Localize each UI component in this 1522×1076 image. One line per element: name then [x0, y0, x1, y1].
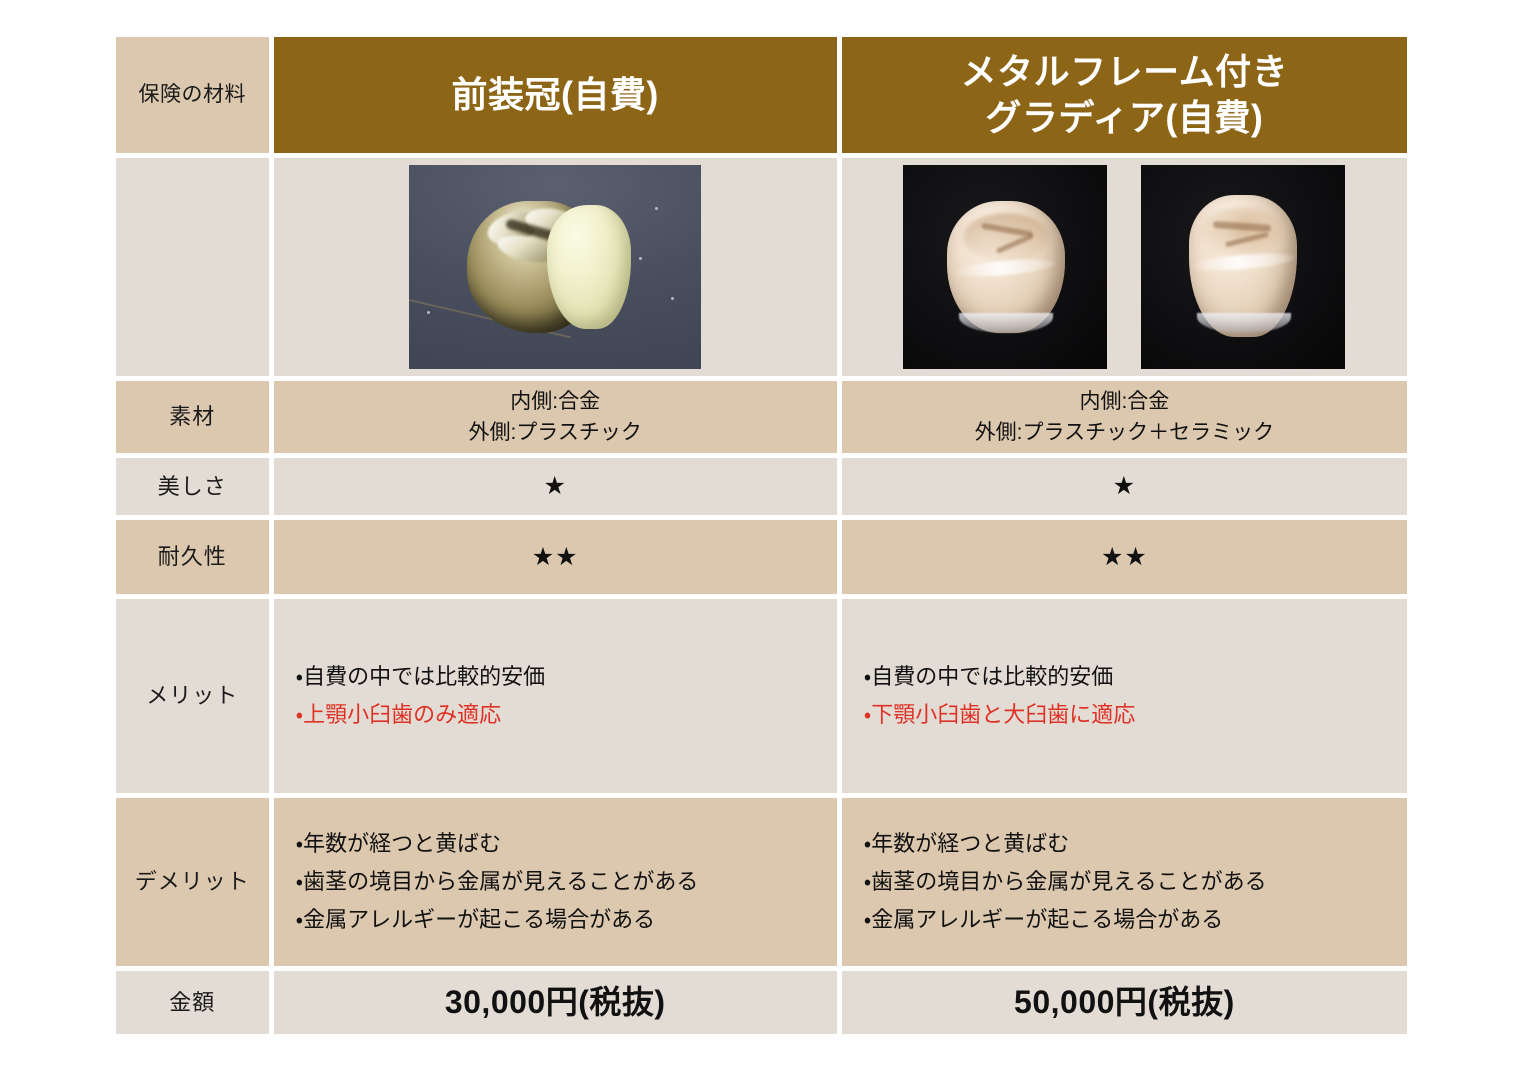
table-row-material: 素材 内側:合金 外側:プラスチック 内側:合金 外側:プラスチック＋セラミック	[116, 381, 1407, 453]
demerit-option2-list: ・年数が経つと黄ばむ ・歯茎の境目から金属が見えることがある ・金属アレルギーが…	[842, 825, 1407, 938]
row-label-durability: 耐久性	[116, 520, 269, 594]
material-option2: 内側:合金 外側:プラスチック＋セラミック	[842, 381, 1407, 453]
crown-plastic-facing	[547, 205, 631, 329]
merit-option1-item-1: ・上顎小臼歯のみ適応	[296, 696, 837, 734]
header-label-insurance-material: 保険の材料	[116, 37, 269, 153]
demerit-option1: ・年数が経つと黄ばむ ・歯茎の境目から金属が見えることがある ・金属アレルギーが…	[274, 798, 837, 966]
photo-wrap-option2	[842, 158, 1407, 376]
photo-cell-option2	[842, 158, 1407, 376]
merit-option1: ・自費の中では比較的安価 ・上顎小臼歯のみ適応	[274, 599, 837, 793]
table-photo-row	[116, 158, 1407, 376]
row-label-demerit: デメリット	[116, 798, 269, 966]
demerit-option2-item-1: ・歯茎の境目から金属が見えることがある	[864, 863, 1407, 901]
merit-option2: ・自費の中では比較的安価 ・下顎小臼歯と大臼歯に適応	[842, 599, 1407, 793]
gradia-occlusal-surface-left	[963, 213, 1049, 261]
gradia-crown-occlusal-photo	[903, 165, 1107, 369]
photo-row-label-empty	[116, 158, 269, 376]
photo-speck	[655, 207, 658, 210]
header-option2-line1: メタルフレーム付き	[961, 51, 1288, 92]
merit-option2-item-0: ・自費の中では比較的安価	[864, 658, 1407, 696]
gradia-metal-margin-left	[959, 313, 1053, 333]
row-label-price: 金額	[116, 971, 269, 1034]
demerit-option1-item-1: ・歯茎の境目から金属が見えることがある	[296, 863, 837, 901]
table-row-beauty: 美しさ ★ ★	[116, 458, 1407, 515]
table-row-merit: メリット ・自費の中では比較的安価 ・上顎小臼歯のみ適応 ・自費の中では比較的安…	[116, 599, 1407, 793]
material-option1-line1: 内側:合金	[510, 390, 600, 413]
durability-rating-option2: ★★	[842, 520, 1407, 594]
photo-speck	[671, 297, 674, 300]
merit-option1-list: ・自費の中では比較的安価 ・上顎小臼歯のみ適応	[274, 658, 837, 734]
photo-speck	[639, 257, 642, 260]
table-row-durability: 耐久性 ★★ ★★	[116, 520, 1407, 594]
material-option2-line1: 内側:合金	[1079, 390, 1169, 413]
durability-rating-option1: ★★	[274, 520, 837, 594]
gradia-metal-margin-right	[1197, 313, 1291, 333]
material-comparison-table: 保険の材料 前装冠(自費) メタルフレーム付き グラディア(自費)	[111, 32, 1412, 1039]
comparison-sheet: 保険の材料 前装冠(自費) メタルフレーム付き グラディア(自費)	[0, 0, 1522, 1076]
header-option2-title: メタルフレーム付き グラディア(自費)	[842, 37, 1407, 153]
merit-option2-list: ・自費の中では比較的安価 ・下顎小臼歯と大臼歯に適応	[842, 658, 1407, 734]
material-option1: 内側:合金 外側:プラスチック	[274, 381, 837, 453]
gradia-crown-side-photo	[1141, 165, 1345, 369]
demerit-option1-list: ・年数が経つと黄ばむ ・歯茎の境目から金属が見えることがある ・金属アレルギーが…	[274, 825, 837, 938]
row-label-material: 素材	[116, 381, 269, 453]
photo-speck	[427, 311, 430, 314]
price-option1: 30,000円(税抜)	[274, 971, 837, 1034]
beauty-rating-option2: ★	[842, 458, 1407, 515]
header-option1-title: 前装冠(自費)	[274, 37, 837, 153]
price-option2: 50,000円(税抜)	[842, 971, 1407, 1034]
table-row-demerit: デメリット ・年数が経つと黄ばむ ・歯茎の境目から金属が見えることがある ・金属…	[116, 798, 1407, 966]
material-option2-line2: 外側:プラスチック＋セラミック	[975, 421, 1274, 444]
demerit-option2-item-2: ・金属アレルギーが起こる場合がある	[864, 901, 1407, 939]
merit-option2-item-1: ・下顎小臼歯と大臼歯に適応	[864, 696, 1407, 734]
table-header-row: 保険の材料 前装冠(自費) メタルフレーム付き グラディア(自費)	[116, 37, 1407, 153]
photo-wrap-option1	[274, 158, 837, 376]
row-label-beauty: 美しさ	[116, 458, 269, 515]
merit-option1-item-0: ・自費の中では比較的安価	[296, 658, 837, 696]
beauty-rating-option1: ★	[274, 458, 837, 515]
demerit-option2-item-0: ・年数が経つと黄ばむ	[864, 825, 1407, 863]
row-label-merit: メリット	[116, 599, 269, 793]
photo-cell-option1	[274, 158, 837, 376]
header-option2-line2: グラディア(自費)	[985, 97, 1263, 138]
table-row-price: 金額 30,000円(税抜) 50,000円(税抜)	[116, 971, 1407, 1034]
demerit-option1-item-0: ・年数が経つと黄ばむ	[296, 825, 837, 863]
metal-crown-with-plastic-facing-photo	[409, 165, 701, 369]
demerit-option1-item-2: ・金属アレルギーが起こる場合がある	[296, 901, 837, 939]
demerit-option2: ・年数が経つと黄ばむ ・歯茎の境目から金属が見えることがある ・金属アレルギーが…	[842, 798, 1407, 966]
material-option1-line2: 外側:プラスチック	[468, 421, 641, 444]
